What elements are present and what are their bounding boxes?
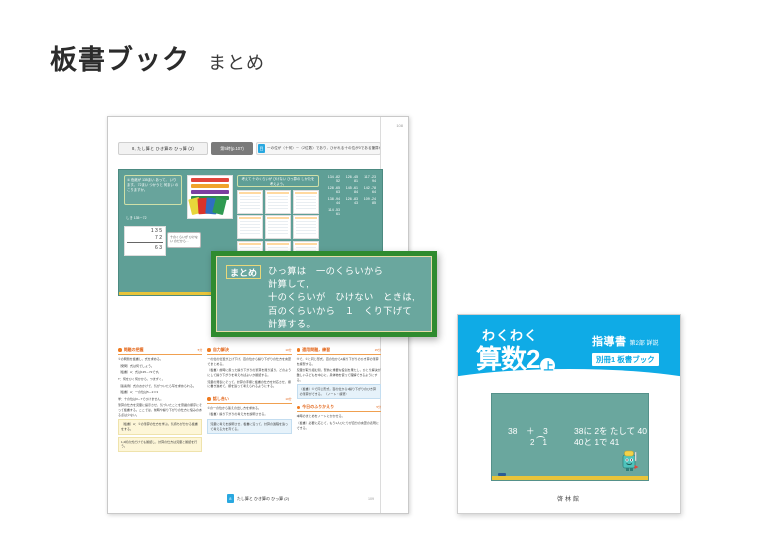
section-header: 適用問題，練習 15分 [297, 347, 381, 355]
cover-supplement-badge: 別冊1 板書ブック [592, 353, 659, 366]
section-title: 問題の把握 [124, 347, 144, 353]
section-duration: 15分 [375, 348, 381, 352]
summary-callout-highlight[interactable]: まとめ ひっ算は 一のくらいから 計算して, 十のくらいが ひけない ときは, … [211, 251, 437, 337]
section-title: 適用問題，練習 [302, 347, 330, 353]
cover-publisher-name: 啓林館 [458, 494, 680, 503]
bullet-dot-icon [207, 397, 211, 401]
summary-callout-inner: まとめ ひっ算は 一のくらいから 計算して, 十のくらいが ひけない ときは, … [216, 256, 432, 332]
footer-unit-title: たし算と ひき算の ひっ算 (2) [237, 496, 289, 502]
footer-page-number: 109 [368, 497, 374, 501]
paragraph: 〔板書〕A：式は135－72です。 [118, 370, 202, 375]
lesson-aim-box: 目 一の位が〈十何〉－〈2位数〉であり，ひかれる十の位が0である筆算ができる。 [256, 142, 381, 155]
worksheet-thumb [293, 190, 319, 214]
bullet-dot-icon [297, 348, 301, 352]
board-note-callout: 十のくらいが ひけない のだから… [167, 232, 201, 248]
bullet-dot-icon [118, 348, 122, 352]
highlight-block-blue: 児童に考えを説明させ，板書に沿って，計算の過程を追って考える力を育てる。 [207, 419, 291, 434]
cover-guidebook-part: 第2部 詳説 [630, 338, 659, 347]
card-strip-orange [191, 184, 229, 188]
section-body: 本時のまとめをノートにかかせる。 〔板書〕必要に応じて，もう1人ひとりが自分の言… [297, 414, 381, 430]
drill-problem: 134 -82 52 [324, 175, 341, 184]
hissan-bottom-row: 7 2 [125, 234, 165, 241]
section-title: 今日のふりかえり [302, 404, 334, 410]
paragraph: ①の一の位から答えの出し方を求める。 [207, 406, 291, 411]
hissan-rule [127, 242, 163, 243]
drill-problem: 109 -24 85 [360, 197, 377, 206]
section-header: 話し合い 10分 [207, 396, 291, 404]
summary-tag-label: まとめ [226, 265, 261, 279]
worksheet-thumb [265, 215, 291, 239]
hissan-result-row: 6 3 [125, 244, 165, 251]
section-header: 問題の把握 5分 [118, 347, 202, 355]
section-body: 一の位の位置が上げ下げ，百の位から繰り下がりの仕方を言葉でまとめる。 〔板書〕前… [207, 357, 291, 389]
cover-equation-carry: 2 1 [530, 437, 547, 448]
cover-blackboard: 38 ＋ 3 2 1 38に 2を たして 40 40と 1で 41 [491, 393, 649, 481]
section-duration: 10分 [285, 397, 291, 401]
paragraph: 児童の発表にそって，計算の手順と板書の仕方を対応させ，順に書き進めて，順を追って… [207, 380, 291, 389]
cover-guidebook-label: 指導書 [592, 333, 627, 349]
section-duration: 5分 [376, 405, 381, 409]
paragraph: 〔答案例〕式のおかげで，気がついたら写を求められる。 [118, 384, 202, 389]
section-practice: 適用問題，練習 15分 ⑤で，①と同じ形式，百の位から1繰り下がりのひき算の筆算… [297, 347, 381, 399]
page-title-sub: まとめ [208, 49, 265, 75]
drill-problem: 142 -78 64 [360, 186, 377, 195]
board-vertical-calculation: 1 3 5 7 2 6 3 [124, 226, 166, 256]
drill-problem: 117 -23 94 [360, 175, 377, 184]
section-body: ⑤で，①と同じ形式，百の位から1繰り下がりのひき算の筆算を練習する。 児童が取り… [297, 357, 381, 399]
guide-page-footer: 8 たし算と ひき算の ひっ算 (2) [108, 494, 408, 503]
paragraph: 本時のまとめをノートにかかせる。 [297, 414, 381, 419]
bullet-dot-icon [297, 406, 301, 410]
unit-title-chip: 8, たし算と ひき算の ひっ算 (2) [118, 142, 208, 155]
summary-body-text: ひっ算は 一のくらいから 計算して, 十のくらいが ひけない ときは, 百のくら… [268, 265, 415, 323]
page-corner-number: 108 [396, 123, 403, 128]
cover-explanation: 38に 2を たして 40 40と 1で 41 [574, 426, 647, 449]
drill-problem: 138 -94 44 [324, 197, 341, 206]
section-title: 話し合い [213, 396, 229, 402]
section-body: ①の一の位から答えの出し方を求める。 〔板書〕繰り下がりの考え方を説明させる。 … [207, 406, 291, 435]
worksheet-thumb [237, 215, 263, 239]
fan-green [212, 197, 227, 215]
paragraph: 筆算の仕方を児童に提示させ，気づいたことを意識の順序にそって板書する。ここでは，… [118, 403, 202, 417]
book-cover[interactable]: わくわく 算数2 上 指導書 第2部 詳説 別冊1 板書ブック 38 ＋ 3 2… [457, 314, 681, 514]
card-strip-purple [191, 190, 229, 194]
paragraph: 学：十の位は3－7でひけません。 [118, 397, 202, 402]
drill-problem: 126 -83 43 [342, 197, 359, 206]
worksheet-thumb [293, 215, 319, 239]
page-title-main: 板書ブック [50, 38, 190, 77]
board-paper-cards-image [187, 175, 233, 219]
guide-header-row: 8, たし算と ひき算の ひっ算 (2) 第5時(p.107) 目 一の位が〈十… [118, 142, 381, 155]
paragraph: 児童が取り組む間，習熟に重要な役割を果たし，ひとり解決が難しい子どもを中心に，具… [297, 368, 381, 382]
paragraph: 〔板書〕前時に扱った繰り下がりの筆算を振り返り，どのようにして繰り下がりを考えれ… [207, 368, 291, 377]
color-paper-fan [190, 198, 228, 216]
paragraph: ①の問題を板書し，式を求める。 [118, 357, 202, 362]
aim-badge-icon: 目 [258, 144, 265, 153]
section-duration: 10分 [285, 348, 291, 352]
cover-subject-text: 算数2 [476, 339, 539, 376]
paragraph: 一の位の位置が上げ下げ，百の位から繰り下がりの仕方を言葉でまとめる。 [207, 357, 291, 366]
lesson-aim-text: 一の位が〈十何〉－〈2位数〉であり，ひかれる十の位が0である筆算ができる。 [267, 146, 380, 151]
section-body: ①の問題を板書し，式を求める。 〔発問〕式は何でしょう。 〔板書〕A：式は135… [118, 357, 202, 452]
section-header: 自力解決 10分 [207, 347, 291, 355]
mascot-character-icon [620, 447, 640, 473]
paragraph: 〔板書〕A：一の位は5－2＝3 [118, 390, 202, 395]
chalk-eraser-icon [498, 473, 506, 476]
section-reflection: 今日のふりかえり 5分 本時のまとめをノートにかかせる。 〔板書〕必要に応じて，… [297, 404, 381, 432]
hissan-top-row: 1 3 5 [125, 227, 165, 234]
drill-problem: 128 -65 63 [324, 186, 341, 195]
paragraph: T：何をひく何かから，つまずく。 [118, 377, 202, 382]
highlight-block-yellow: 〔板書〕A：①の筆算の仕方を学ぶ。気持ちが分かる板書をする。 [118, 419, 202, 434]
section-self-solving: 自力解決 10分 一の位の位置が上げ下げ，百の位から繰り下がりの仕方を言葉でまと… [207, 347, 291, 391]
section-duration: 5分 [198, 348, 203, 352]
cover-subject-title: 算数2 上 [476, 339, 555, 376]
commentary-column-1: 問題の把握 5分 ①の問題を板書し，式を求める。 〔発問〕式は何でしょう。 〔板… [118, 347, 202, 514]
paragraph: ⑤で，①と同じ形式，百の位から1繰り下がりのひき算の筆算を練習する。 [297, 357, 381, 366]
page-title: 板書ブック まとめ [50, 38, 265, 77]
commentary-columns: 問題の把握 5分 ①の問題を板書し，式を求める。 〔発問〕式は何でしょう。 〔板… [118, 347, 381, 514]
section-header: 今日のふりかえり 5分 [297, 404, 381, 412]
section-problem-grasp: 問題の把握 5分 ①の問題を板書し，式を求める。 〔発問〕式は何でしょう。 〔板… [118, 347, 202, 452]
worksheet-thumb [237, 190, 263, 214]
commentary-column-3: 適用問題，練習 15分 ⑤で，①と同じ形式，百の位から1繰り下がりのひき算の筆算… [297, 347, 381, 514]
drill-problem: 145 -61 84 [342, 186, 359, 195]
commentary-column-2: 自力解決 10分 一の位の位置が上げ下げ，百の位から繰り下がりの仕方を言葉でまと… [207, 347, 291, 514]
footer-unit-badge: 8 [227, 494, 234, 503]
cover-guidebook-row: 指導書 第2部 詳説 [592, 333, 676, 349]
cover-chalk-ledge [492, 476, 648, 480]
section-title: 自力解決 [213, 347, 229, 353]
board-shiki-text: しき 135－72 [124, 214, 182, 224]
paragraph: 〔発問〕式は何でしょう。 [118, 364, 202, 369]
board-problem-text: ① 色紙が 135まい あって， いります。 72まい つかうと 何まい のこり… [124, 175, 182, 205]
lesson-hour-chip: 第5時(p.107) [211, 142, 253, 155]
bullet-dot-icon [207, 348, 211, 352]
paragraph: 〔板書〕繰り下がりの考え方を説明させる。 [207, 412, 291, 417]
worksheet-thumb [265, 190, 291, 214]
drill-problem: 114 -53 61 [324, 208, 341, 217]
section-discussion: 話し合い 10分 ①の一の位から答えの出し方を求める。 〔板書〕繰り下がりの考え… [207, 396, 291, 435]
highlight-block-blue: 〔板書〕①で同じ形式，百の位から1繰り下がりのひき算の筆算ができる。 （ノート・… [297, 384, 381, 399]
cover-volume-badge: 上 [540, 358, 555, 373]
cover-meta-block: 指導書 第2部 詳説 別冊1 板書ブック [592, 333, 676, 367]
board-objective-label: 考えて 十のくらいが ひけない ひっ算の しかたを 考えよう。 [237, 175, 319, 187]
drill-problem: 126 -45 81 [342, 175, 359, 184]
paragraph: 〔板書〕必要に応じて，もう1人ひとりが自分の言葉の表現にできる。 [297, 421, 381, 430]
highlight-block-yellow: 1,2桁の式だけでも確認し，計算の仕方は児童と確認を行う。 [118, 437, 202, 452]
card-strip-red [191, 178, 229, 182]
